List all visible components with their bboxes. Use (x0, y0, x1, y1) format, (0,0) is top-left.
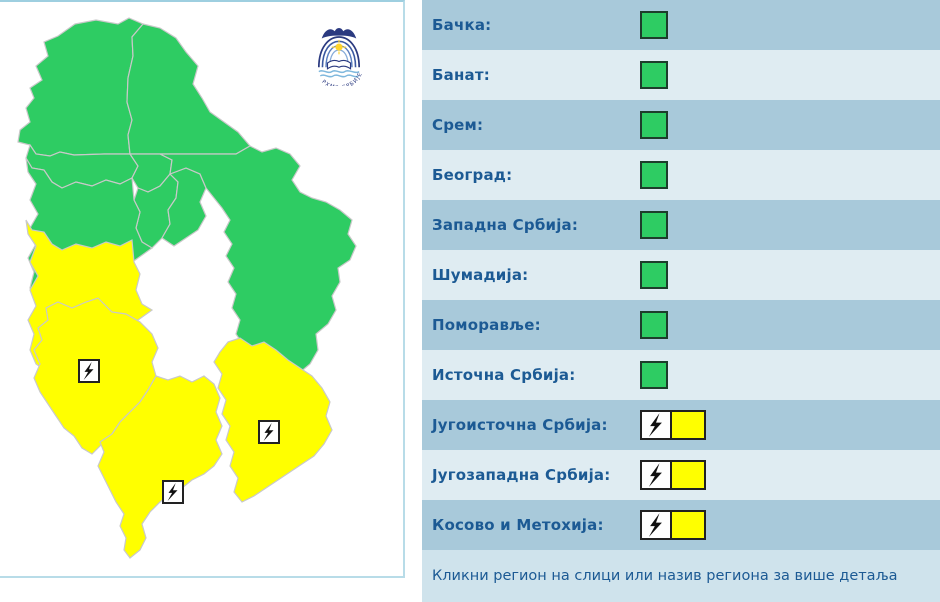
map-warning-icon-kosovo-i-metohija[interactable] (162, 480, 184, 504)
region-label-бачка[interactable]: Бачка: (432, 16, 632, 34)
region-label-срем[interactable]: Срем: (432, 116, 632, 134)
region-row[interactable]: Југоисточна Србија: (422, 400, 940, 450)
region-status-table: Бачка:Банат:Срем:Београд:Западна Србија:… (422, 0, 940, 602)
region-row[interactable]: Београд: (422, 150, 940, 200)
green-status-swatch (640, 161, 668, 189)
region-row[interactable]: Поморавље: (422, 300, 940, 350)
region-status-шумадија (640, 261, 668, 289)
region-label-југоисточна-србија[interactable]: Југоисточна Србија: (432, 416, 632, 434)
region-label-поморавље[interactable]: Поморавље: (432, 316, 632, 334)
region-status-источна-србија (640, 361, 668, 389)
region-status-срем (640, 111, 668, 139)
region-row[interactable]: Бачка: (422, 0, 940, 50)
footer-hint-text: Кликни регион на слици или назив региона… (432, 568, 898, 584)
region-label-источна-србија[interactable]: Источна Србија: (432, 366, 632, 384)
thunderstorm-bolt-icon (642, 412, 672, 438)
region-status-банат (640, 61, 668, 89)
region-status-београд (640, 161, 668, 189)
region-row[interactable]: Банат: (422, 50, 940, 100)
region-label-југозападна-србија[interactable]: Југозападна Србија: (432, 466, 632, 484)
region-row[interactable]: Косово и Метохија: (422, 500, 940, 550)
region-status-косово-и-метохија (640, 510, 706, 540)
region-status-западна-србија (640, 211, 668, 239)
green-status-swatch (640, 361, 668, 389)
serbia-map-panel[interactable]: РХМЗ СРБИЈЕ (0, 0, 405, 578)
region-row[interactable]: Западна Србија: (422, 200, 940, 250)
region-status-југоисточна-србија (640, 410, 706, 440)
region-row[interactable]: Срем: (422, 100, 940, 150)
table-footer: Кликни регион на слици или назив региона… (422, 550, 940, 602)
map-warning-icon-jugoistocna-srbija[interactable] (258, 420, 280, 444)
region-rows: Бачка:Банат:Срем:Београд:Западна Србија:… (422, 0, 940, 550)
green-status-swatch (640, 61, 668, 89)
green-status-swatch (640, 111, 668, 139)
yellow-warning-swatch (640, 460, 706, 490)
region-label-београд[interactable]: Београд: (432, 166, 632, 184)
region-row[interactable]: Источна Србија: (422, 350, 940, 400)
region-label-западна-србија[interactable]: Западна Србија: (432, 216, 632, 234)
yellow-warning-swatch (640, 510, 706, 540)
region-label-шумадија[interactable]: Шумадија: (432, 266, 632, 284)
rhmz-logo-caption: РХМЗ СРБИЈЕ (320, 71, 364, 86)
thunderstorm-bolt-icon (642, 512, 672, 538)
map-region-banat[interactable] (127, 24, 250, 154)
green-status-swatch (640, 211, 668, 239)
region-row[interactable]: Шумадија: (422, 250, 940, 300)
region-label-банат[interactable]: Банат: (432, 66, 632, 84)
map-warning-icon-jugozapadna-srbija[interactable] (78, 359, 100, 383)
yellow-level-swatch (672, 512, 704, 538)
yellow-warning-swatch (640, 410, 706, 440)
rhmz-logo: РХМЗ СРБИЈЕ (303, 14, 375, 86)
weather-warning-page: РХМЗ СРБИЈЕ Бачка:Банат:Срем:Београд:Зап… (0, 0, 940, 602)
green-status-swatch (640, 11, 668, 39)
thunderstorm-bolt-icon (642, 462, 672, 488)
serbia-map[interactable] (0, 2, 405, 578)
green-status-swatch (640, 311, 668, 339)
green-status-swatch (640, 261, 668, 289)
region-status-југозападна-србија (640, 460, 706, 490)
region-status-бачка (640, 11, 668, 39)
region-row[interactable]: Југозападна Србија: (422, 450, 940, 500)
map-region-backa[interactable] (18, 18, 143, 156)
region-label-косово-и-метохија[interactable]: Косово и Метохија: (432, 516, 632, 534)
yellow-level-swatch (672, 412, 704, 438)
yellow-level-swatch (672, 462, 704, 488)
region-status-поморавље (640, 311, 668, 339)
